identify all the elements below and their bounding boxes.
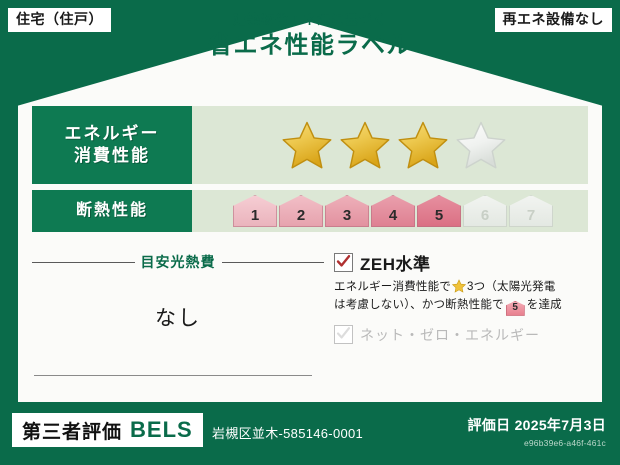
zeh-title: ZEH水準 <box>360 250 431 275</box>
star-rating <box>192 106 588 184</box>
zeh-desc-part4: を達成 <box>527 299 562 311</box>
bels-logo-text: BELS <box>130 417 193 443</box>
check-icon-faded <box>336 326 351 341</box>
lower-section: 目安光熱費 なし ZEH水準 エネルギー消費性能で 3つ（太陽光発電 は考慮しな… <box>32 246 588 392</box>
insulation-grade-1: 1 <box>233 195 277 227</box>
badge-building-type: 住宅（住戸） <box>8 8 111 32</box>
page-title: 省エネ性能ラベル <box>0 31 620 61</box>
check-icon <box>336 254 351 269</box>
insulation-performance-label-text: 断熱性能 <box>76 201 148 222</box>
evaluation-date: 評価日 2025年7月3日 <box>467 415 606 435</box>
net-zero-energy-row: ネット・ゼロ・エネルギー <box>334 325 588 345</box>
certificate-hash: e96b39e6-a46f-461c <box>467 438 606 448</box>
third-party-evaluation-label: 第三者評価 <box>22 417 122 444</box>
insulation-performance-row: 断熱性能 1234567 <box>32 190 588 232</box>
insulation-grade-5: 5 <box>417 195 461 227</box>
zeh-header: ZEH水準 <box>334 250 588 275</box>
star-filled-icon <box>339 120 391 170</box>
star-empty-icon <box>455 120 507 170</box>
energy-performance-label: 住宅（住戸） 再エネ設備なし 建築物省エネ法に基づく 省エネ性能ラベル エネルギ… <box>0 0 620 465</box>
insulation-grade-7: 7 <box>509 195 553 227</box>
footer-bar: 第三者評価 BELS 岩槻区並木-585146-0001 評価日 2025年7月… <box>0 403 620 465</box>
utility-cost-value: なし <box>32 302 324 332</box>
insulation-grade-6: 6 <box>463 195 507 227</box>
energy-performance-label: エネルギー 消費性能 <box>32 106 192 184</box>
zeh-desc-part3: は考慮しない）、かつ断熱性能で <box>334 299 504 311</box>
inline-star-icon <box>452 279 466 293</box>
star-filled-icon <box>397 120 449 170</box>
zeh-description: エネルギー消費性能で 3つ（太陽光発電 は考慮しない）、かつ断熱性能で5を達成 <box>334 279 588 316</box>
energy-performance-row: エネルギー 消費性能 <box>32 106 588 184</box>
badge-renewable-equipment: 再エネ設備なし <box>495 8 613 32</box>
utility-cost-divider <box>34 375 312 376</box>
zeh-desc-part2: 3つ（太陽光発電 <box>467 281 556 293</box>
star-filled-icon <box>281 120 333 170</box>
zeh-panel: ZEH水準 エネルギー消費性能で 3つ（太陽光発電 は考慮しない）、かつ断熱性能… <box>324 246 588 392</box>
rule-right <box>222 262 325 263</box>
energy-performance-label-line1: エネルギー <box>65 123 160 145</box>
utility-cost-heading-text: 目安光熱費 <box>141 252 216 272</box>
insulation-performance-label: 断熱性能 <box>32 190 192 232</box>
inline-grade-badge: 5 <box>506 301 525 316</box>
insulation-grade-4: 4 <box>371 195 415 227</box>
zeh-checkbox[interactable] <box>334 253 353 272</box>
net-zero-energy-checkbox[interactable] <box>334 325 353 344</box>
utility-cost-panel: 目安光熱費 なし <box>32 246 324 392</box>
property-address: 岩槻区並木-585146-0001 <box>212 423 363 442</box>
bels-certification-box: 第三者評価 BELS <box>12 413 203 447</box>
insulation-grade-scale: 1234567 <box>192 190 588 232</box>
energy-performance-label-line2: 消費性能 <box>74 145 150 167</box>
evaluation-date-block: 評価日 2025年7月3日 e96b39e6-a46f-461c <box>467 415 606 448</box>
utility-cost-heading: 目安光熱費 <box>32 252 324 272</box>
insulation-grade-3: 3 <box>325 195 369 227</box>
performance-rows: エネルギー 消費性能 断熱性能 1234567 <box>32 106 588 238</box>
rule-left <box>32 262 135 263</box>
net-zero-energy-label: ネット・ゼロ・エネルギー <box>360 325 540 345</box>
insulation-grade-2: 2 <box>279 195 323 227</box>
zeh-desc-part1: エネルギー消費性能で <box>334 281 451 293</box>
